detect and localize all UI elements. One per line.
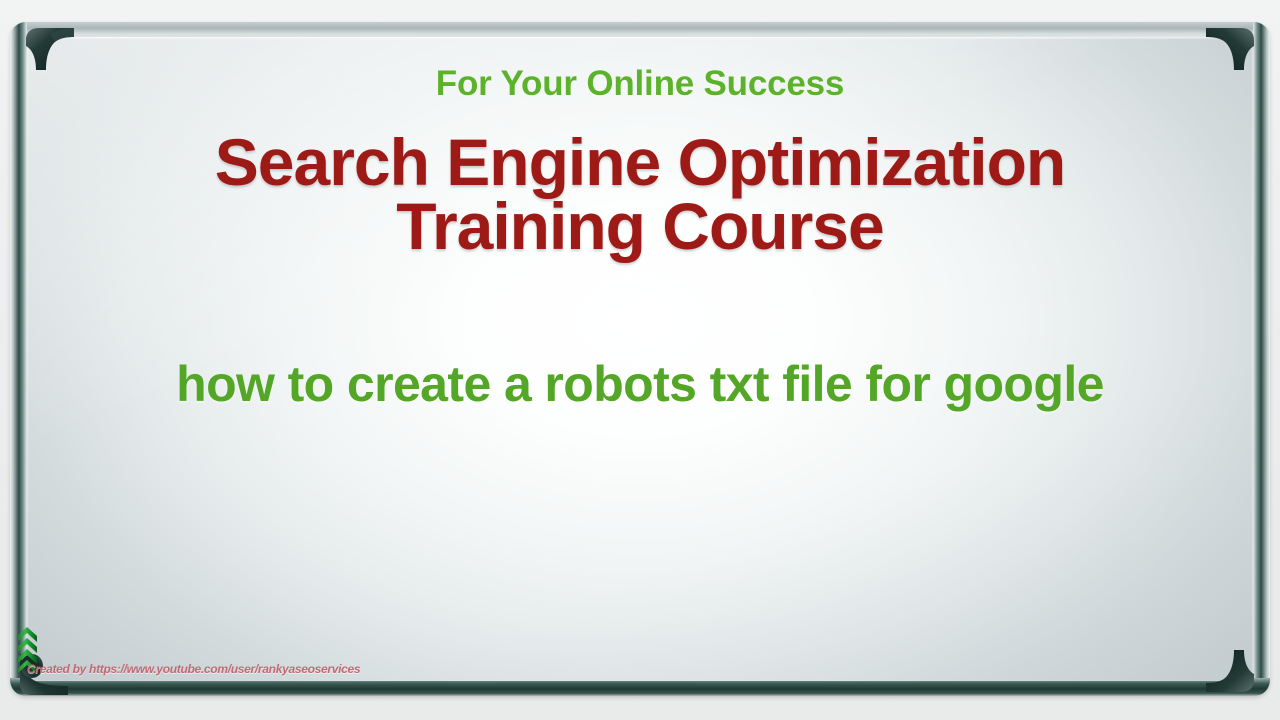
page-title: Search Engine Optimization Training Cour… (27, 104, 1253, 258)
page-title-line-1: Search Engine Optimization (27, 130, 1253, 194)
board-frame-left-rail (10, 22, 27, 696)
credit-text: Created by https://www.youtube.com/user/… (27, 662, 360, 676)
slide-subtitle: how to create a robots txt file for goog… (27, 258, 1253, 413)
slide-content: For Your Online Success Search Engine Op… (27, 37, 1253, 681)
presentation-slide: For Your Online Success Search Engine Op… (0, 0, 1280, 720)
board-frame-right-rail (1253, 22, 1270, 696)
page-title-line-2: Training Course (27, 194, 1253, 258)
slide-eyebrow: For Your Online Success (27, 37, 1253, 104)
